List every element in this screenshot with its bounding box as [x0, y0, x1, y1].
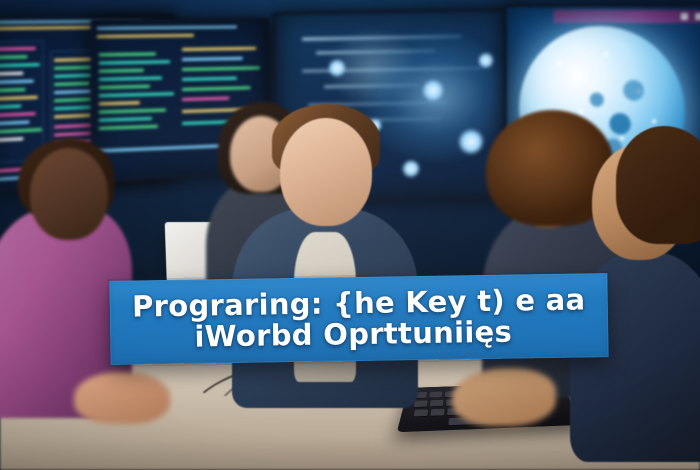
window-titlebar [553, 10, 700, 23]
student-center-man [232, 104, 422, 414]
hand-right [452, 368, 556, 426]
banner-title-line-2: iWorbd Oprttuniięs [194, 317, 512, 352]
head [30, 148, 108, 240]
title-banner: Prograring: {he Key t) e aa iWorbd Oprtt… [109, 273, 608, 365]
photo-canvas: Prograring: {he Key t) e aa iWorbd Oprtt… [0, 0, 700, 470]
head [280, 118, 372, 226]
hair [616, 126, 700, 244]
hand-left [74, 372, 170, 424]
